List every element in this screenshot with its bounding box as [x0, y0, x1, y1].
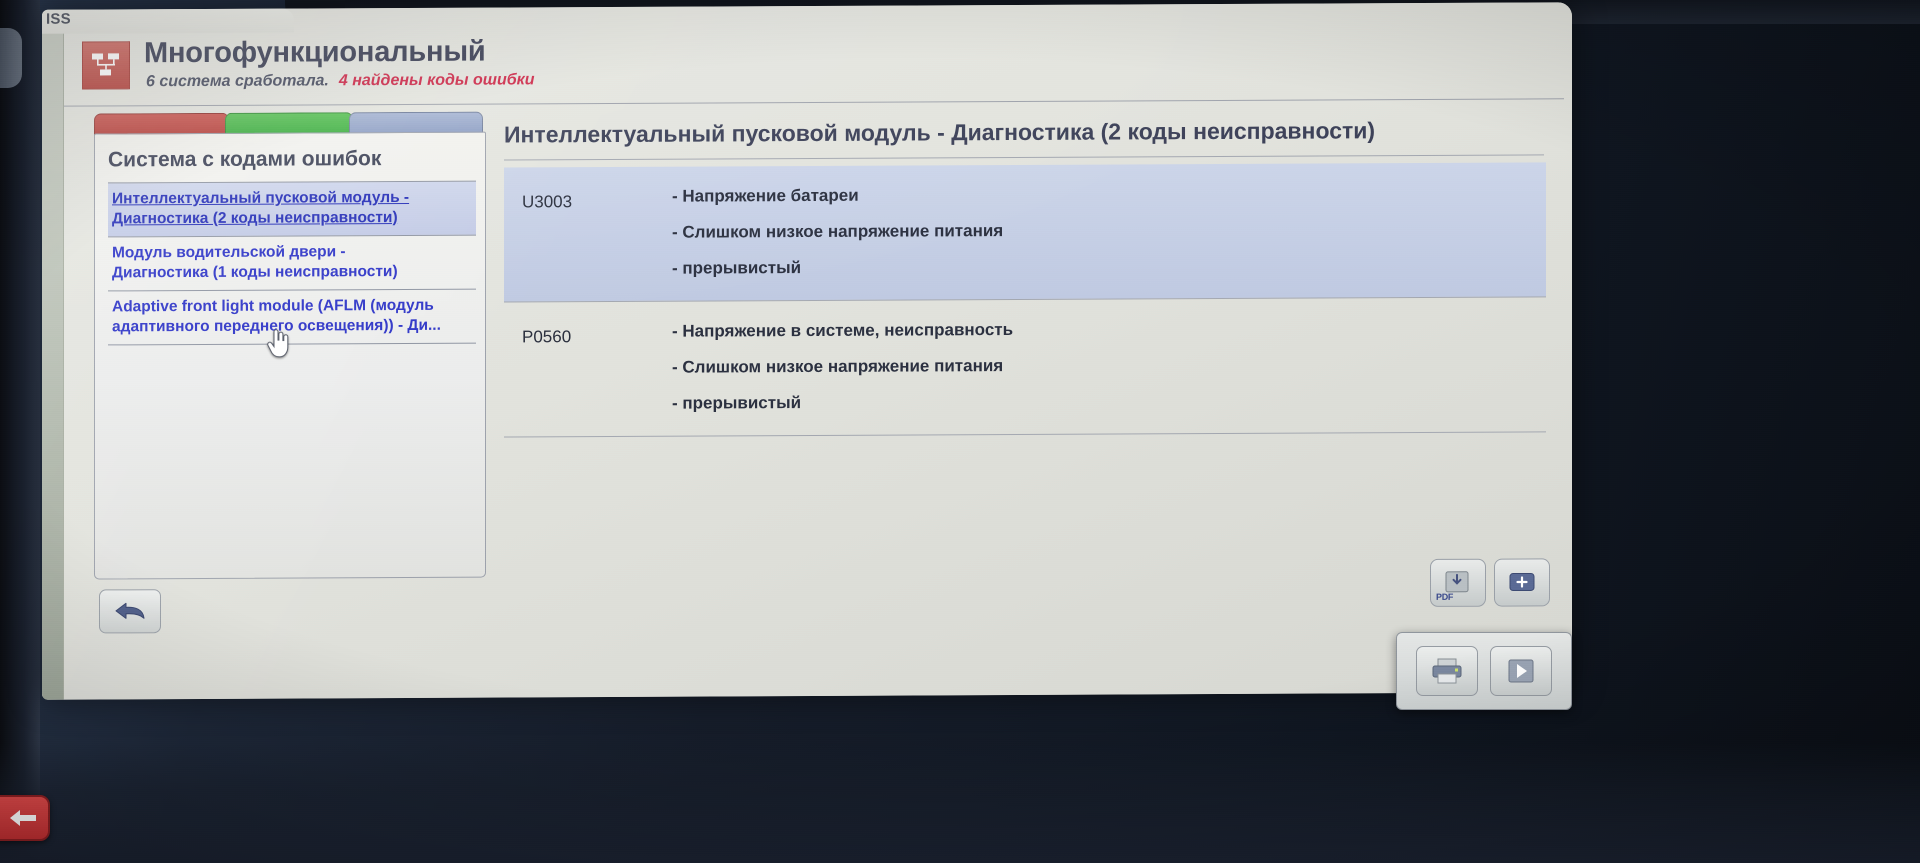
photographed-screen-scene: ISS Многофункциональный — [0, 0, 1920, 863]
pdf-label: PDF — [1436, 592, 1453, 602]
next-button[interactable] — [1490, 646, 1552, 696]
save-pdf-button[interactable]: PDF — [1430, 559, 1486, 607]
panel-title: Система с кодами ошибок — [108, 147, 381, 172]
fault-code-descriptions: - Напряжение батареи - Слишком низкое на… — [672, 174, 1546, 286]
device-side-tab — [0, 28, 22, 88]
systems-with-fault-codes-panel: Система с кодами ошибок Интеллектуальный… — [94, 132, 486, 580]
sidebar-item-driver-door-module[interactable]: Модуль водительской двери - Диагностика … — [108, 235, 476, 291]
device-bezel-left — [0, 0, 40, 863]
add-button[interactable] — [1494, 558, 1550, 606]
device-bottom-toolbar — [1396, 632, 1572, 710]
fault-code-description: - Напряжение батареи — [672, 174, 1546, 214]
back-arrow-button[interactable] — [99, 589, 161, 633]
fault-code-description: - Слишком низкое напряжение питания — [672, 210, 1546, 250]
systems-triggered-text: 6 система сработала. — [146, 72, 329, 90]
fault-code-id: U3003 — [504, 179, 672, 288]
fault-code-description: - прерывистый — [672, 381, 1546, 421]
app-left-rail — [42, 10, 64, 700]
content-top-divider — [504, 154, 1544, 160]
app-background: ISS Многофункциональный — [42, 2, 1572, 699]
list-item-line1: Интеллектуальный пусковой модуль - — [112, 188, 472, 209]
fault-code-id: P0560 — [504, 314, 672, 423]
fault-code-descriptions: - Напряжение в системе, неисправность - … — [672, 309, 1546, 421]
window-tab-iss[interactable]: ISS — [42, 9, 294, 34]
fault-code-description: - Слишком низкое напряжение питания — [672, 345, 1546, 385]
content-heading: Интеллектуальный пусковой модуль - Диагн… — [504, 117, 1375, 148]
sidebar-item-smart-start-module[interactable]: Интеллектуальный пусковой модуль - Диагн… — [108, 181, 476, 237]
network-modules-icon — [82, 41, 130, 89]
diagnostic-app-screen: ISS Многофункциональный — [42, 2, 1572, 699]
print-button[interactable] — [1416, 646, 1478, 696]
list-item-line1: Adaptive front light module (AFLM (модул… — [112, 296, 472, 317]
window-tab-label: ISS — [46, 11, 71, 28]
device-bezel-bottom — [0, 743, 1920, 863]
page-title: Многофункциональный — [144, 36, 486, 71]
fault-codes-table: U3003 - Напряжение батареи - Слишком низ… — [504, 162, 1546, 437]
table-row[interactable]: P0560 - Напряжение в системе, неисправно… — [504, 297, 1546, 437]
list-item-line2: Диагностика (2 коды неисправности) — [112, 207, 472, 228]
screen-toolbar: PDF — [1430, 558, 1554, 611]
fault-code-description: - Напряжение в системе, неисправность — [672, 309, 1546, 349]
fault-codes-found-text: 4 найдены коды ошибки — [339, 71, 535, 89]
list-item-line1: Модуль водительской двери - — [112, 242, 472, 263]
page-subtitle: 6 система сработала.4 найдены коды ошибк… — [146, 71, 535, 91]
list-item-line2: адаптивного переднего освещения)) - Ди..… — [112, 315, 472, 336]
systems-list: Интеллектуальный пусковой модуль - Диагн… — [108, 181, 476, 346]
fault-code-description: - прерывистый — [672, 246, 1546, 286]
sidebar-item-aflm-module[interactable]: Adaptive front light module (AFLM (модул… — [108, 289, 476, 346]
table-row[interactable]: U3003 - Напряжение батареи - Слишком низ… — [504, 162, 1546, 302]
device-back-button[interactable] — [0, 795, 50, 841]
list-item-line2: Диагностика (1 коды неисправности) — [112, 261, 472, 282]
app-header: Многофункциональный 6 система сработала.… — [64, 26, 1572, 105]
